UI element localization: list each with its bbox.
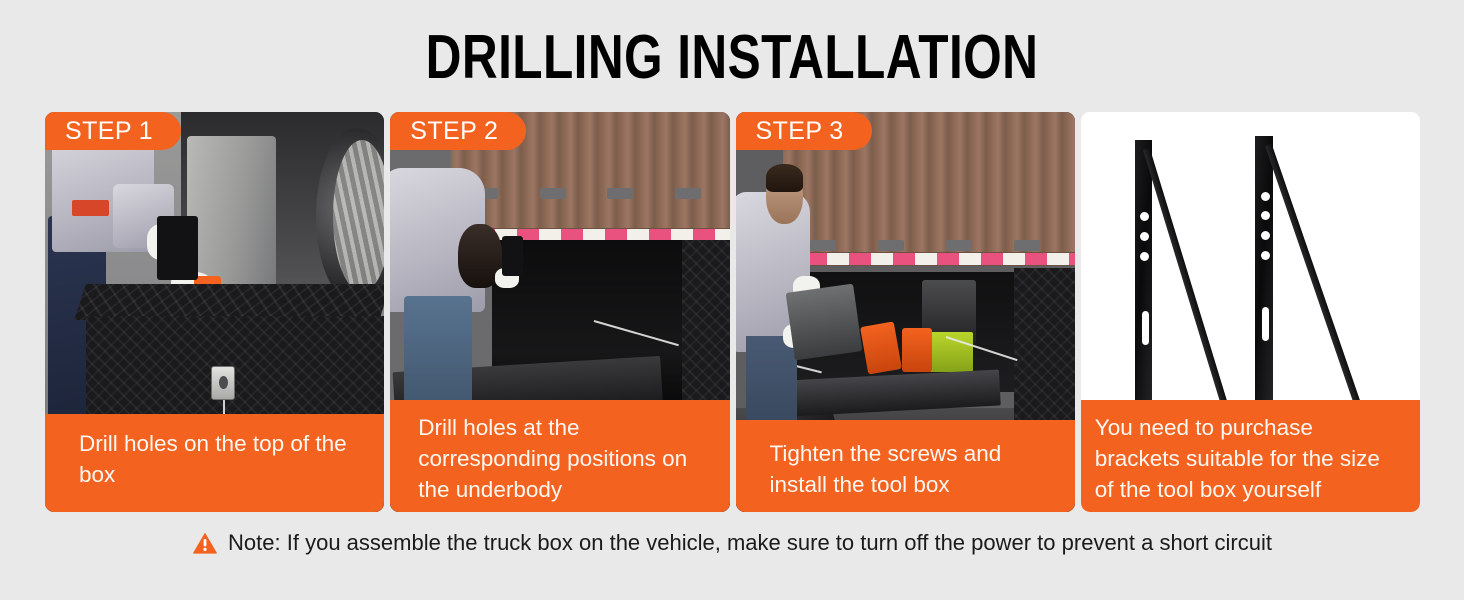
- step-card-2[interactable]: STEP 2 Drill holes at the corresponding …: [390, 112, 729, 512]
- step-card-1[interactable]: STEP 1 Drill holes on the top of the box: [45, 112, 384, 512]
- infographic-page: DRILLING INSTALLATION: [0, 0, 1464, 600]
- step-card-3[interactable]: STEP 3 Tighten the screws and install th…: [736, 112, 1075, 512]
- step-3-caption: Tighten the screws and install the tool …: [736, 420, 1075, 512]
- product-card-brackets[interactable]: You need to purchase brackets suitable f…: [1081, 112, 1420, 512]
- step-2-badge: STEP 2: [390, 112, 526, 150]
- step-1-caption: Drill holes on the top of the box: [45, 414, 384, 512]
- step-2-caption: Drill holes at the corresponding positio…: [390, 400, 729, 512]
- brackets-caption: You need to purchase brackets suitable f…: [1081, 400, 1420, 512]
- step-1-badge: STEP 1: [45, 112, 181, 150]
- note-bar: Note: If you assemble the truck box on t…: [0, 530, 1464, 556]
- warning-triangle-icon: [192, 531, 218, 555]
- note-text: Note: If you assemble the truck box on t…: [228, 530, 1272, 556]
- step-3-badge: STEP 3: [736, 112, 872, 150]
- steps-card-strip: STEP 1 Drill holes on the top of the box: [45, 112, 1420, 512]
- page-title: DRILLING INSTALLATION: [146, 22, 1317, 94]
